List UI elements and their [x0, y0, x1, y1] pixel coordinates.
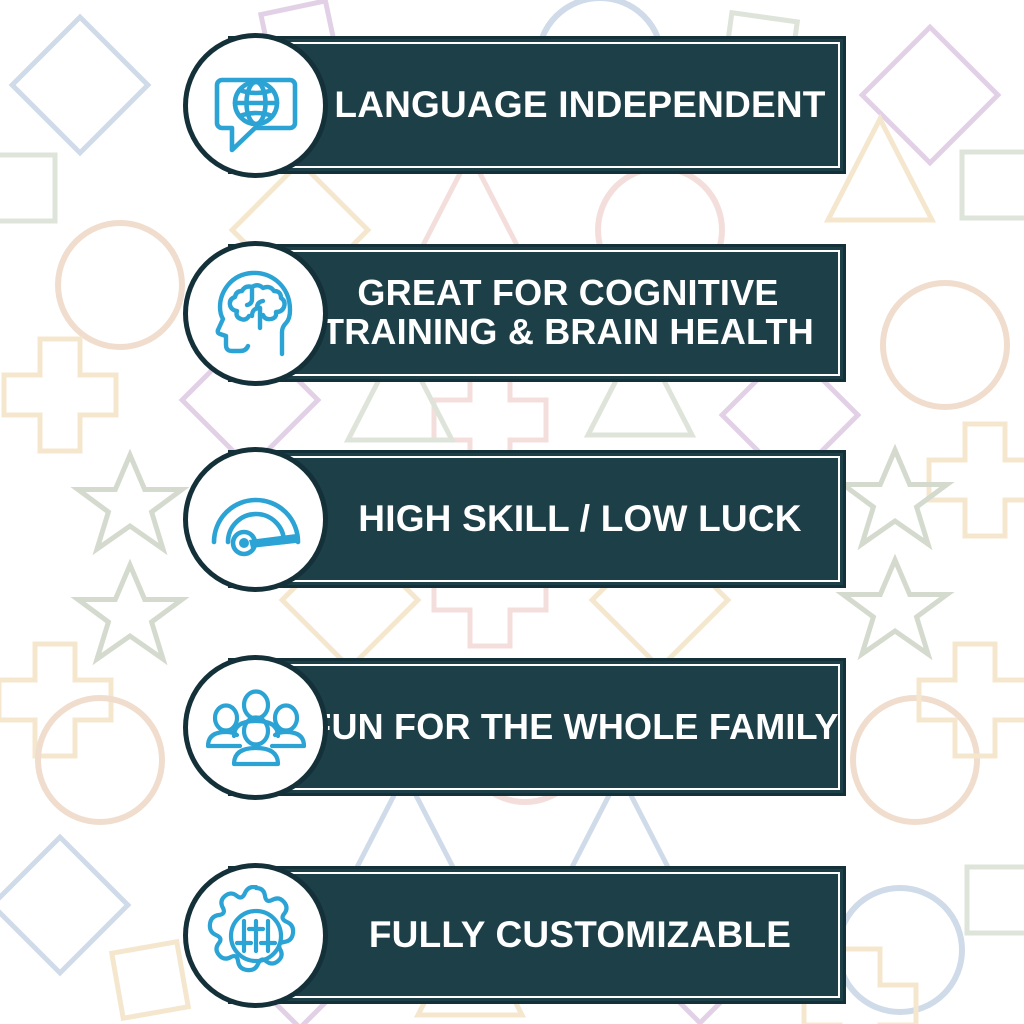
- feature-icon-medallion: [183, 33, 328, 178]
- feature-label: HIGH SKILL / LOW LUCK: [262, 499, 811, 539]
- feature-icon-medallion: [183, 655, 328, 800]
- feature-row-language-independent[interactable]: LANGUAGE INDEPENDENT: [0, 26, 1024, 186]
- speedometer-gauge-icon: [206, 470, 306, 570]
- feature-row-fully-customizable[interactable]: FULLY CUSTOMIZABLE: [0, 856, 1024, 1016]
- feature-icon-medallion: [183, 863, 328, 1008]
- feature-icon-medallion: [183, 447, 328, 592]
- feature-row-whole-family[interactable]: FUN FOR THE WHOLE FAMILY: [0, 648, 1024, 808]
- gear-sliders-icon: [205, 885, 307, 987]
- feature-list-graphic: LANGUAGE INDEPENDENT GREAT FOR: [0, 0, 1024, 1024]
- feature-rows: LANGUAGE INDEPENDENT GREAT FOR: [0, 0, 1024, 1024]
- feature-row-high-skill-low-luck[interactable]: HIGH SKILL / LOW LUCK: [0, 440, 1024, 600]
- head-brain-icon: [208, 266, 304, 362]
- people-group-icon: [206, 678, 306, 778]
- feature-label: GREAT FOR COGNITIVE TRAINING & BRAIN HEA…: [250, 274, 824, 352]
- feature-label: FULLY CUSTOMIZABLE: [273, 915, 801, 955]
- speech-bubble-globe-icon: [208, 58, 304, 154]
- feature-icon-medallion: [183, 241, 328, 386]
- feature-row-cognitive-training[interactable]: GREAT FOR COGNITIVE TRAINING & BRAIN HEA…: [0, 234, 1024, 394]
